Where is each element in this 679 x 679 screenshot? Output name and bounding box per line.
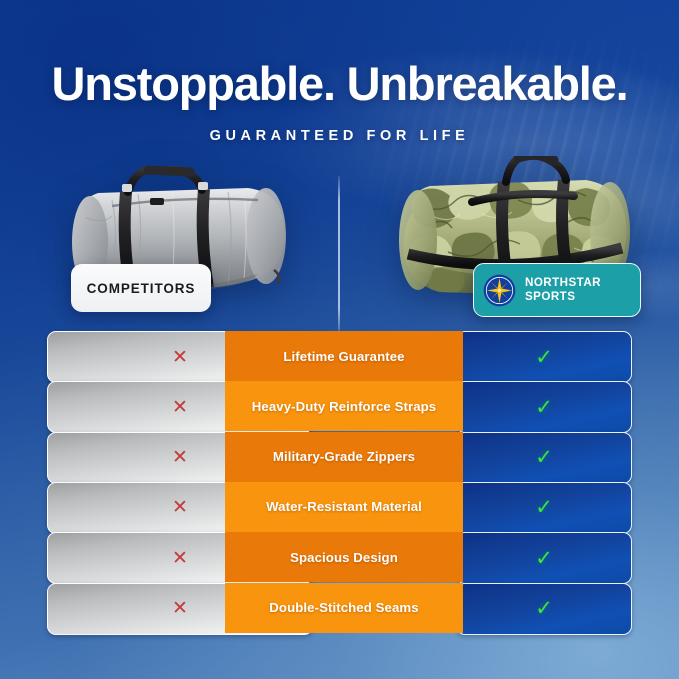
center-divider bbox=[338, 176, 340, 331]
brand-name-line2: SPORTS bbox=[525, 290, 575, 303]
table-row: ✕✓Water-Resistant Material bbox=[0, 482, 679, 532]
cross-icon: ✕ bbox=[172, 448, 188, 467]
feature-label: Spacious Design bbox=[225, 532, 463, 582]
page-subtitle: GUARANTEED FOR LIFE bbox=[0, 128, 679, 144]
comparison-table: ✕✓Lifetime Guarantee✕✓Heavy-Duty Reinfor… bbox=[0, 331, 679, 633]
feature-label: Lifetime Guarantee bbox=[225, 331, 463, 381]
table-row: ✕✓Spacious Design bbox=[0, 532, 679, 582]
table-row: ✕✓Military-Grade Zippers bbox=[0, 432, 679, 482]
check-icon: ✓ bbox=[535, 347, 553, 368]
feature-label: Heavy-Duty Reinforce Straps bbox=[225, 381, 463, 431]
brand-cell: ✓ bbox=[456, 482, 632, 534]
cross-icon: ✕ bbox=[172, 348, 188, 367]
page-title: Unstoppable. Unbreakable. bbox=[0, 56, 679, 111]
brand-cell: ✓ bbox=[456, 583, 632, 635]
cross-icon: ✕ bbox=[172, 498, 188, 517]
check-icon: ✓ bbox=[535, 548, 553, 569]
brand-cell: ✓ bbox=[456, 432, 632, 484]
brand-label-text: NORTHSTAR SPORTS bbox=[525, 276, 601, 303]
table-row: ✕✓Heavy-Duty Reinforce Straps bbox=[0, 381, 679, 431]
brand-cell: ✓ bbox=[456, 532, 632, 584]
check-icon: ✓ bbox=[535, 447, 553, 468]
brand-label-pill: NORTHSTAR SPORTS bbox=[473, 263, 641, 317]
brand-cell: ✓ bbox=[456, 381, 632, 433]
feature-label: Double-Stitched Seams bbox=[225, 583, 463, 633]
brand-name-line1: NORTHSTAR bbox=[525, 276, 601, 289]
check-icon: ✓ bbox=[535, 497, 553, 518]
feature-label: Military-Grade Zippers bbox=[225, 432, 463, 482]
table-row: ✕✓Lifetime Guarantee bbox=[0, 331, 679, 381]
table-row: ✕✓Double-Stitched Seams bbox=[0, 583, 679, 633]
check-icon: ✓ bbox=[535, 397, 553, 418]
cross-icon: ✕ bbox=[172, 599, 188, 618]
competitors-label-text: COMPETITORS bbox=[87, 281, 196, 296]
cross-icon: ✕ bbox=[172, 398, 188, 417]
brand-cell: ✓ bbox=[456, 331, 632, 383]
competitors-label-pill: COMPETITORS bbox=[71, 264, 211, 312]
cross-icon: ✕ bbox=[172, 549, 188, 568]
feature-label: Water-Resistant Material bbox=[225, 482, 463, 532]
promo-graphic: Unstoppable. Unbreakable. GUARANTEED FOR… bbox=[0, 0, 679, 679]
compass-star-logo-icon bbox=[483, 274, 516, 307]
check-icon: ✓ bbox=[535, 598, 553, 619]
